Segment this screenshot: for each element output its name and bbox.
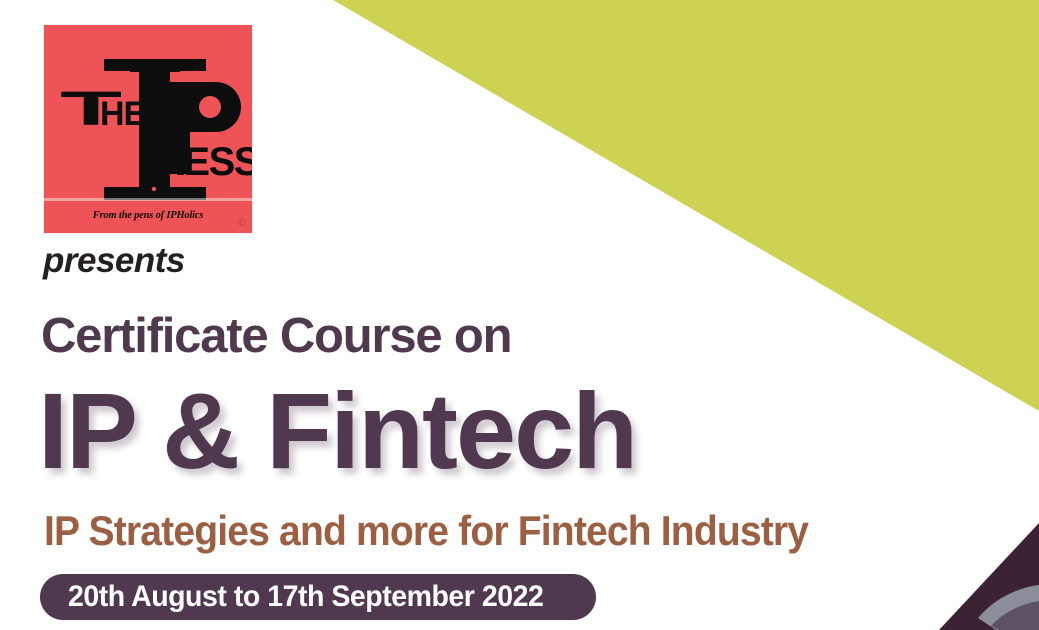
course-subtitle: IP Strategies and more for Fintech Indus… <box>44 510 808 552</box>
ip-press-wordmark-icon: T HE RESS <box>44 25 252 233</box>
date-badge: 20th August to 17th September 2022 <box>40 574 596 620</box>
pen-stripe-highlight <box>991 601 1039 630</box>
course-eyebrow: Certificate Course on <box>41 312 511 361</box>
svg-text:HE: HE <box>100 95 146 133</box>
logo-card: T HE RESS From the pens of IPHolics © <box>44 25 252 233</box>
course-title: IP & Fintech <box>38 377 636 485</box>
presents-label: presents <box>43 243 185 278</box>
poster-canvas: T HE RESS From the pens of IPHolics © pr… <box>0 0 1039 630</box>
pen-stripe-shape <box>978 585 1039 630</box>
date-badge-label: 20th August to 17th September 2022 <box>68 582 543 612</box>
logo-divider <box>44 198 252 201</box>
plum-corner-shape <box>939 523 1039 630</box>
copyright-icon: © <box>238 218 246 229</box>
svg-text:RESS: RESS <box>156 140 252 184</box>
logo-tagline: From the pens of IPHolics <box>44 210 252 221</box>
